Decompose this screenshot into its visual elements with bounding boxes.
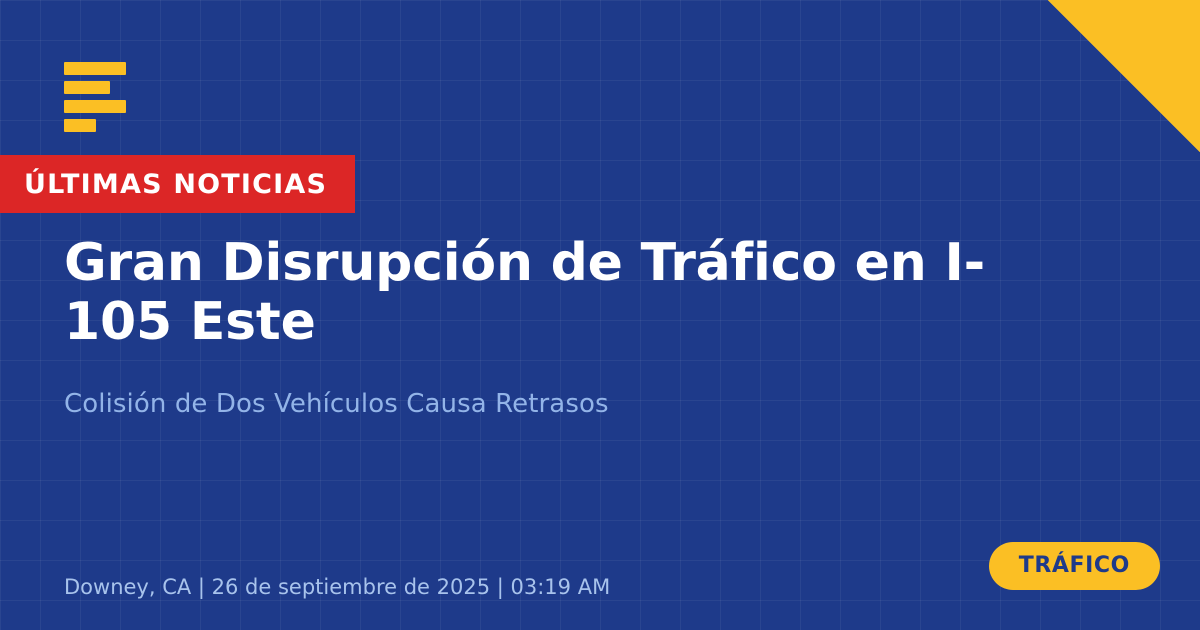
stacked-bars-logo-icon [64,62,156,132]
corner-triangle-decoration [1048,0,1200,152]
footer-meta: Downey, CA | 26 de septiembre de 2025 | … [64,575,610,600]
logo-bar-4 [64,119,96,132]
logo-bar-2 [64,81,110,94]
news-card: ÚLTIMAS NOTICIAS Gran Disrupción de Tráf… [0,0,1200,630]
logo-bar-1 [64,62,126,75]
logo-bar-3 [64,100,126,113]
category-badge-label: TRÁFICO [1019,555,1130,577]
breaking-news-badge-label: ÚLTIMAS NOTICIAS [24,171,327,198]
headline-block: Gran Disrupción de Tráfico en I-105 Este… [64,234,1074,421]
subtitle: Colisión de Dos Vehículos Causa Retrasos [64,388,1074,422]
page-title: Gran Disrupción de Tráfico en I-105 Este [64,234,1074,352]
breaking-news-badge: ÚLTIMAS NOTICIAS [0,155,355,213]
category-badge: TRÁFICO [989,542,1160,590]
